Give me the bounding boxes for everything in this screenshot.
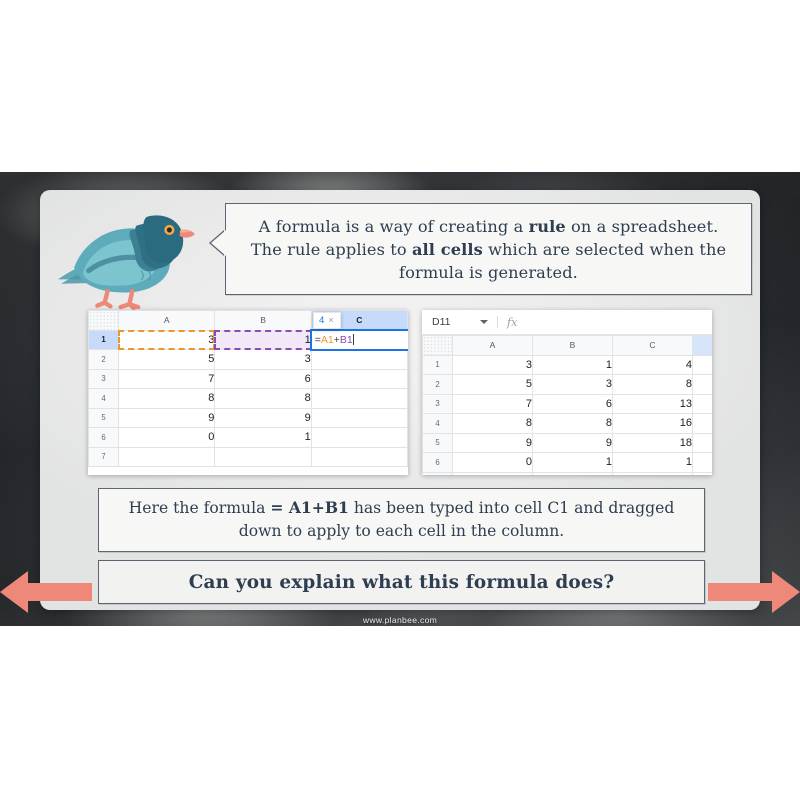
row-header-5[interactable]: 5 bbox=[89, 408, 119, 428]
next-slide-arrow[interactable] bbox=[708, 569, 800, 615]
speech-bubble-tail bbox=[211, 230, 226, 256]
cell-a2[interactable]: 5 bbox=[453, 375, 533, 395]
cell-d7[interactable] bbox=[693, 472, 713, 475]
pigeon-illustration bbox=[45, 195, 205, 310]
previous-slide-arrow[interactable] bbox=[0, 569, 92, 615]
spreadsheet-left[interactable]: A B C 1 3 1 =A1+B1 2 5 3 3 7 6 bbox=[88, 310, 408, 475]
cell-c5[interactable]: 18 bbox=[613, 433, 693, 453]
cell-a4[interactable]: 8 bbox=[119, 389, 215, 409]
table-row: 7 bbox=[423, 472, 713, 475]
cell-a2[interactable]: 5 bbox=[119, 350, 215, 370]
column-header-b[interactable]: B bbox=[533, 336, 613, 356]
select-all-corner[interactable] bbox=[89, 311, 119, 331]
column-header-row: A B C bbox=[89, 311, 408, 331]
cell-a6[interactable]: 0 bbox=[453, 453, 533, 473]
formula-result-tooltip: 4 × bbox=[313, 312, 341, 329]
cell-c6[interactable] bbox=[311, 428, 407, 448]
cell-d3[interactable] bbox=[693, 394, 713, 414]
cell-a1[interactable]: 3 bbox=[453, 355, 533, 375]
cell-c1[interactable]: 4 bbox=[613, 355, 693, 375]
footer-url[interactable]: www.planbee.com bbox=[363, 615, 437, 625]
table-row: 6 0 1 bbox=[89, 428, 408, 448]
column-header-b[interactable]: B bbox=[215, 311, 311, 331]
cell-a6[interactable]: 0 bbox=[119, 428, 215, 448]
chevron-down-icon[interactable] bbox=[480, 320, 488, 324]
row-header-4[interactable]: 4 bbox=[423, 414, 453, 434]
column-header-row: A B C bbox=[423, 336, 713, 356]
cell-d4[interactable] bbox=[693, 414, 713, 434]
speech-bubble-text: A formula is a way of creating a rule on… bbox=[226, 215, 751, 284]
cell-c3[interactable] bbox=[311, 369, 407, 389]
cell-b1[interactable]: 1 bbox=[533, 355, 613, 375]
column-header-a[interactable]: A bbox=[119, 311, 215, 331]
cell-c2[interactable]: 8 bbox=[613, 375, 693, 395]
slide-viewer: A formula is a way of creating a rule on… bbox=[0, 0, 800, 800]
formula-edit-box[interactable]: =A1+B1 bbox=[310, 329, 408, 352]
cell-b6[interactable]: 1 bbox=[533, 453, 613, 473]
table-row: 2 5 3 bbox=[89, 350, 408, 370]
cell-c2[interactable] bbox=[311, 350, 407, 370]
row-header-2[interactable]: 2 bbox=[423, 375, 453, 395]
row-header-7[interactable]: 7 bbox=[89, 447, 119, 467]
column-header-a[interactable]: A bbox=[453, 336, 533, 356]
row-header-3[interactable]: 3 bbox=[423, 394, 453, 414]
cell-a7[interactable] bbox=[119, 447, 215, 467]
cell-b6[interactable]: 1 bbox=[215, 428, 311, 448]
row-header-7[interactable]: 7 bbox=[423, 472, 453, 475]
row-header-2[interactable]: 2 bbox=[89, 350, 119, 370]
table-row: 2 5 3 8 bbox=[423, 375, 713, 395]
formula-ref-a1: A1 bbox=[321, 334, 334, 346]
cell-d2[interactable] bbox=[693, 375, 713, 395]
bubble-bold-rule: rule bbox=[529, 217, 566, 236]
cell-b7[interactable] bbox=[215, 447, 311, 467]
cell-b3[interactable]: 6 bbox=[533, 394, 613, 414]
cell-c7[interactable] bbox=[613, 472, 693, 475]
table-row: 6 0 1 1 bbox=[423, 453, 713, 473]
cell-c7[interactable] bbox=[311, 447, 407, 467]
footer-bar: www.planbee.com bbox=[62, 610, 738, 630]
cell-b1[interactable]: 1 bbox=[215, 330, 311, 350]
cell-b4[interactable]: 8 bbox=[215, 389, 311, 409]
cell-c1-editing[interactable]: =A1+B1 bbox=[311, 330, 407, 350]
spreadsheet-right[interactable]: D11 fx A B C 1 3 1 4 2 5 bbox=[422, 310, 712, 475]
cell-a4[interactable]: 8 bbox=[453, 414, 533, 434]
column-header-d-partial[interactable] bbox=[693, 336, 713, 356]
cell-a3[interactable]: 7 bbox=[453, 394, 533, 414]
table-row: 5 9 9 bbox=[89, 408, 408, 428]
name-box[interactable]: D11 bbox=[432, 316, 480, 328]
cell-b3[interactable]: 6 bbox=[215, 369, 311, 389]
table-row: 5 9 9 18 bbox=[423, 433, 713, 453]
cell-b5[interactable]: 9 bbox=[215, 408, 311, 428]
caption-text-pre: Here the formula bbox=[129, 499, 271, 517]
fx-icon[interactable]: fx bbox=[507, 316, 517, 329]
row-header-4[interactable]: 4 bbox=[89, 389, 119, 409]
table-row: 4 8 8 bbox=[89, 389, 408, 409]
cell-c6[interactable]: 1 bbox=[613, 453, 693, 473]
cell-b5[interactable]: 9 bbox=[533, 433, 613, 453]
column-header-c[interactable]: C bbox=[613, 336, 693, 356]
spreadsheet-left-grid[interactable]: A B C 1 3 1 =A1+B1 2 5 3 3 7 6 bbox=[88, 310, 408, 467]
cell-c4[interactable] bbox=[311, 389, 407, 409]
cell-b7[interactable] bbox=[533, 472, 613, 475]
cell-b2[interactable]: 3 bbox=[215, 350, 311, 370]
question-text: Can you explain what this formula does? bbox=[189, 572, 615, 593]
table-row: 1 3 1 =A1+B1 bbox=[89, 330, 408, 350]
cell-c4[interactable]: 16 bbox=[613, 414, 693, 434]
row-header-3[interactable]: 3 bbox=[89, 369, 119, 389]
caption-formula: = A1+B1 bbox=[270, 498, 349, 517]
cell-a5[interactable]: 9 bbox=[119, 408, 215, 428]
table-row: 7 bbox=[89, 447, 408, 467]
toolbar-divider bbox=[497, 316, 498, 328]
cell-a5[interactable]: 9 bbox=[453, 433, 533, 453]
cell-a3[interactable]: 7 bbox=[119, 369, 215, 389]
speech-bubble: A formula is a way of creating a rule on… bbox=[225, 203, 752, 295]
cell-d1[interactable] bbox=[693, 355, 713, 375]
table-row: 4 8 8 16 bbox=[423, 414, 713, 434]
spreadsheet-right-grid[interactable]: A B C 1 3 1 4 2 5 3 8 3 7 6 bbox=[422, 335, 712, 475]
cell-b2[interactable]: 3 bbox=[533, 375, 613, 395]
caption-box: Here the formula = A1+B1 has been typed … bbox=[98, 488, 705, 552]
table-row: 1 3 1 4 bbox=[423, 355, 713, 375]
formula-ref-b1: B1 bbox=[340, 334, 353, 346]
table-row: 3 7 6 13 bbox=[423, 394, 713, 414]
row-header-1[interactable]: 1 bbox=[423, 355, 453, 375]
close-icon[interactable]: × bbox=[328, 315, 334, 326]
row-header-6[interactable]: 6 bbox=[89, 428, 119, 448]
spreadsheet-toolbar: D11 fx bbox=[422, 310, 712, 335]
cell-c5[interactable] bbox=[311, 408, 407, 428]
formula-result-value: 4 bbox=[319, 315, 324, 326]
table-row: 3 7 6 bbox=[89, 369, 408, 389]
row-header-5[interactable]: 5 bbox=[423, 433, 453, 453]
cell-a7[interactable] bbox=[453, 472, 533, 475]
cell-c3[interactable]: 13 bbox=[613, 394, 693, 414]
caption-text: Here the formula = A1+B1 has been typed … bbox=[99, 497, 704, 542]
text-caret bbox=[353, 334, 354, 345]
select-all-corner[interactable] bbox=[423, 336, 453, 356]
cell-a1[interactable]: 3 bbox=[119, 330, 215, 350]
question-box: Can you explain what this formula does? bbox=[98, 560, 705, 604]
cell-b4[interactable]: 8 bbox=[533, 414, 613, 434]
row-header-6[interactable]: 6 bbox=[423, 453, 453, 473]
bubble-text-1: A formula is a way of creating a bbox=[259, 217, 529, 236]
cell-d5[interactable] bbox=[693, 433, 713, 453]
cell-d6[interactable] bbox=[693, 453, 713, 473]
bubble-bold-allcells: all cells bbox=[412, 240, 483, 259]
row-header-1[interactable]: 1 bbox=[89, 330, 119, 350]
